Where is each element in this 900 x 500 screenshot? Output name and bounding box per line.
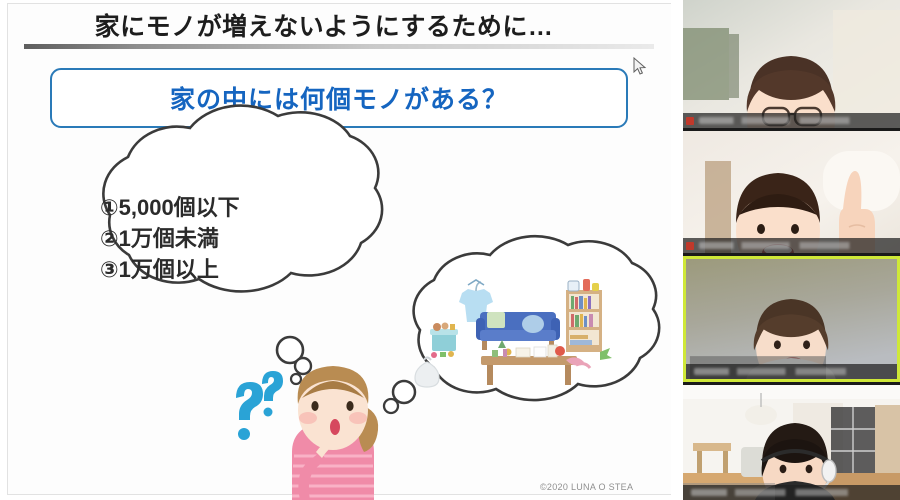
shared-slide-area: 家にモノが増えないようにするために… 家の中には何個モノがある？: [0, 0, 683, 500]
question-box-text: 家の中には何個モノがある？: [170, 80, 508, 116]
video-feed-1: [683, 0, 900, 128]
option-item: ③1万個以上: [100, 254, 330, 285]
title-divider: [24, 44, 654, 49]
copyright-notice: ©2020 LUNA O STEA: [540, 482, 633, 492]
video-tile-4[interactable]: [683, 385, 900, 500]
question-box: 家の中には何個モノがある？: [50, 68, 628, 128]
participant-name-blurred: [699, 242, 892, 249]
mouse-cursor-icon: [633, 57, 647, 75]
participant-name-blurred: [694, 368, 889, 375]
video-tile-3-active-speaker[interactable]: [683, 256, 900, 382]
video-feed-2: [683, 131, 900, 253]
participant-name-bar-2: [683, 238, 900, 253]
mute-indicator-icon: [686, 117, 694, 125]
option-item: ①5,000個以下: [100, 192, 330, 223]
screen-share-window: 家にモノが増えないようにするために… 家の中には何個モノがある？: [0, 0, 900, 500]
options-list: ①5,000個以下 ②1万個未満 ③1万個以上: [100, 192, 330, 286]
participant-name-bar-3: [686, 364, 897, 379]
participant-video-rail: [683, 0, 900, 500]
slide-title: 家にモノが増えないようにするために…: [24, 8, 624, 42]
video-tile-1[interactable]: [683, 0, 900, 128]
participant-name-blurred: [699, 117, 892, 124]
participant-name-bar-1: [683, 113, 900, 128]
video-tile-2[interactable]: [683, 131, 900, 253]
mute-indicator-icon: [686, 242, 694, 250]
option-item: ②1万個未満: [100, 223, 330, 254]
participant-name-bar-4: [683, 485, 900, 500]
participant-name-blurred: [691, 489, 892, 496]
video-feed-3: [686, 259, 897, 379]
video-feed-4: [683, 385, 900, 500]
